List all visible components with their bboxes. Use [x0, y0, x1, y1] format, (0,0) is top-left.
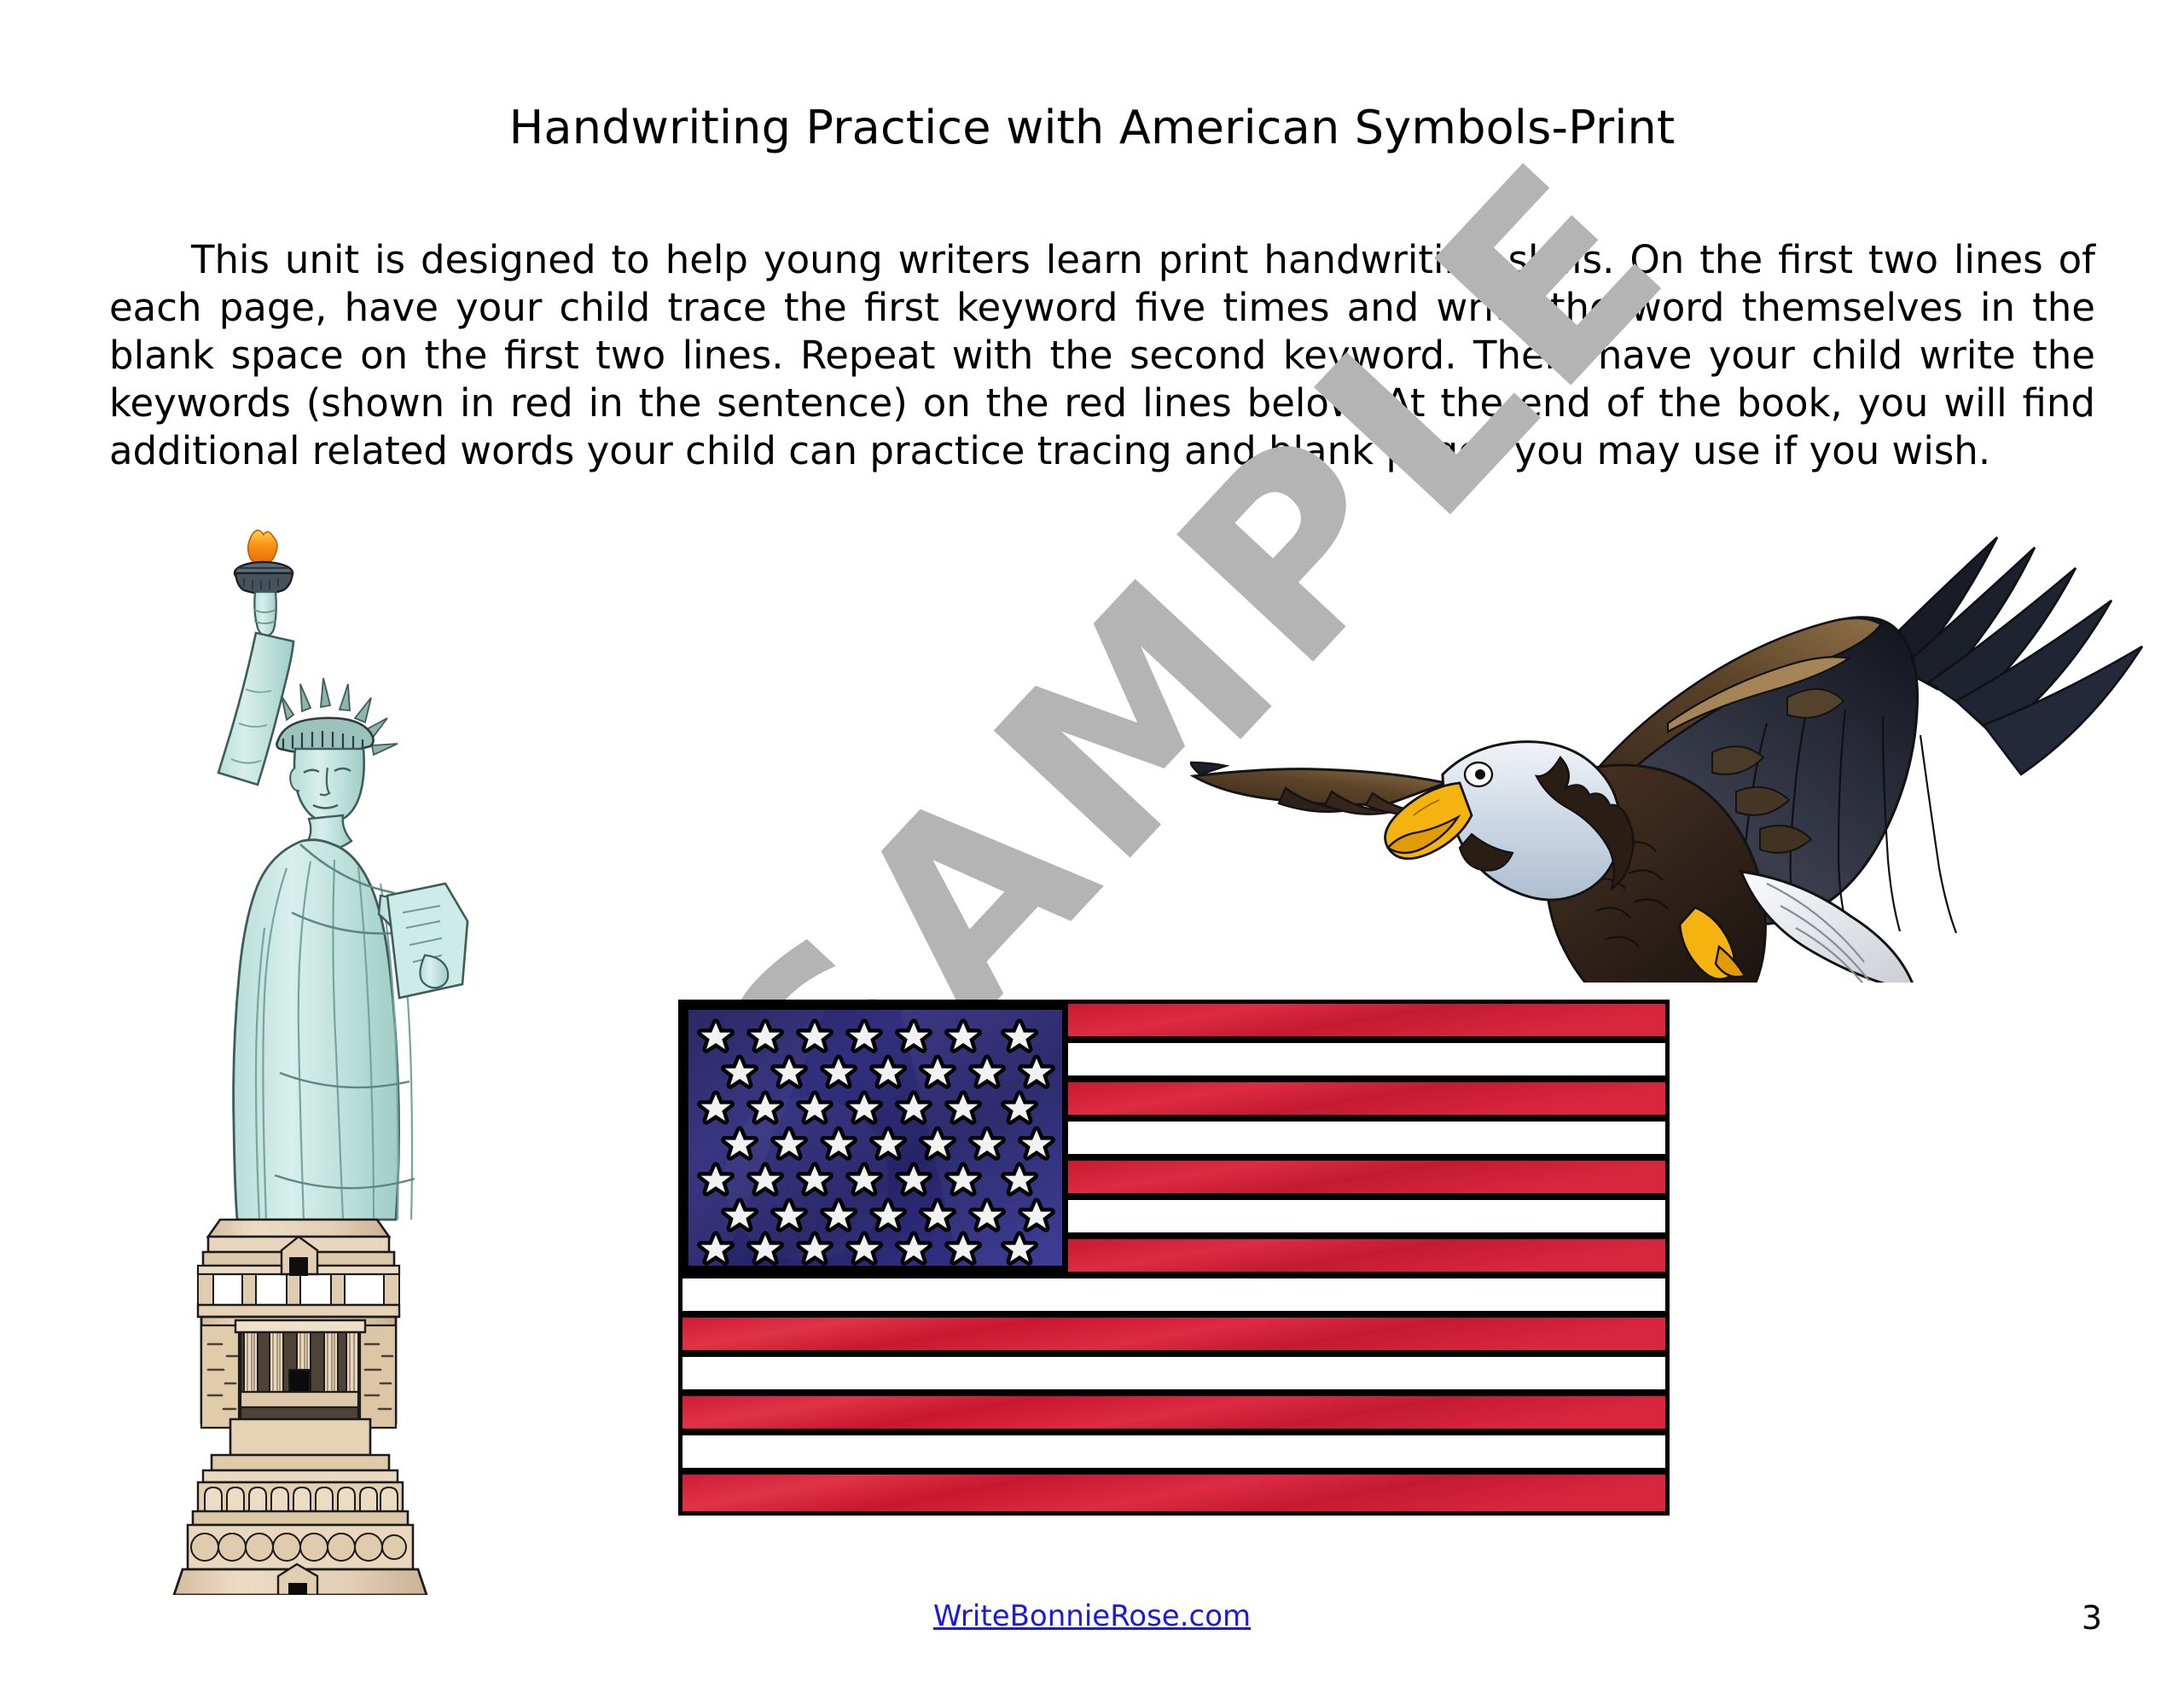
torch-icon — [235, 530, 293, 635]
footer-link-text[interactable]: WriteBonnieRose.com — [933, 1599, 1251, 1633]
statue-head — [294, 749, 364, 822]
eagle-eye — [1465, 762, 1492, 786]
pedestal — [174, 1220, 427, 1595]
intro-paragraph: This unit is designed to help young writ… — [109, 236, 2095, 475]
page-number: 3 — [2082, 1599, 2102, 1637]
american-flag-illustration — [678, 1000, 1670, 1516]
crown-icon — [276, 678, 398, 755]
worksheet-page: Handwriting Practice with American Symbo… — [0, 0, 2184, 1687]
bald-eagle-illustration — [1190, 530, 2180, 983]
footer-website-link[interactable]: WriteBonnieRose.com — [0, 1599, 2184, 1633]
flag-canton — [682, 1004, 1068, 1272]
statue-of-liberty-illustration — [119, 527, 478, 1595]
page-title: Handwriting Practice with American Symbo… — [0, 101, 2184, 154]
